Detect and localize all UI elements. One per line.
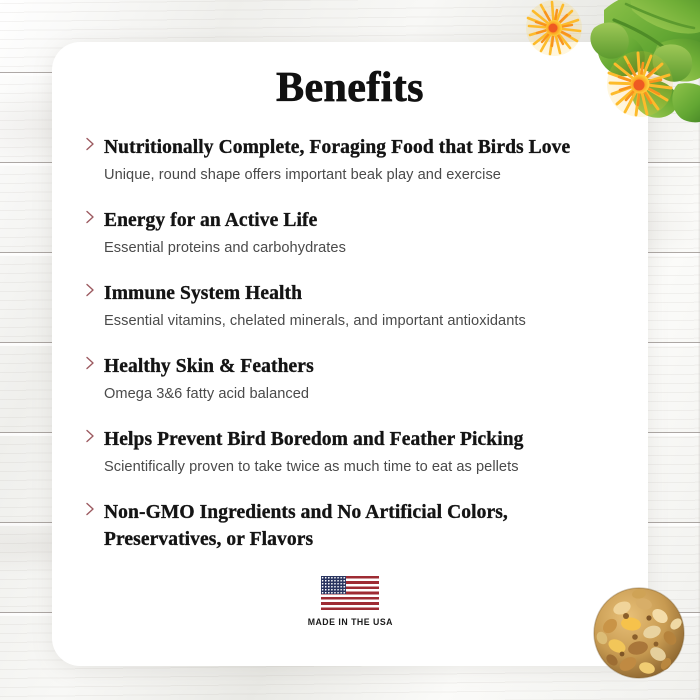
benefits-card: Benefits Nutritionally Complete, Foragin… (52, 42, 648, 666)
list-item: Nutritionally Complete, Foraging Food th… (82, 134, 618, 186)
list-item-body: Healthy Skin & Feathers Omega 3&6 fatty … (104, 353, 618, 405)
flag-stars (321, 576, 346, 594)
made-in-usa-badge: MADE IN THE USA (52, 576, 648, 628)
benefit-subtext: Omega 3&6 fatty acid balanced (104, 383, 618, 405)
benefit-heading: Non-GMO Ingredients and No Artificial Co… (104, 499, 554, 553)
benefits-list: Nutritionally Complete, Foraging Food th… (52, 112, 648, 553)
list-item-body: Immune System Health Essential vitamins,… (104, 280, 618, 332)
benefit-heading: Immune System Health (104, 280, 618, 307)
page-title: Benefits (52, 42, 648, 112)
benefit-subtext: Essential proteins and carbohydrates (104, 237, 618, 259)
benefit-heading: Nutritionally Complete, Foraging Food th… (104, 134, 618, 161)
chevron-right-icon (82, 428, 104, 444)
list-item: Healthy Skin & Feathers Omega 3&6 fatty … (82, 353, 618, 405)
product-benefits-infographic: Benefits Nutritionally Complete, Foragin… (0, 0, 700, 700)
list-item: Helps Prevent Bird Boredom and Feather P… (82, 426, 618, 478)
list-item-body: Helps Prevent Bird Boredom and Feather P… (104, 426, 618, 478)
list-item: Non-GMO Ingredients and No Artificial Co… (82, 499, 618, 553)
benefit-heading: Energy for an Active Life (104, 207, 618, 234)
list-item-body: Non-GMO Ingredients and No Artificial Co… (104, 499, 618, 553)
made-in-usa-caption: MADE IN THE USA (307, 617, 392, 628)
flag-canton (321, 576, 346, 594)
benefit-subtext: Unique, round shape offers important bea… (104, 164, 618, 186)
list-item: Immune System Health Essential vitamins,… (82, 280, 618, 332)
usa-flag-icon (321, 576, 379, 610)
list-item-body: Energy for an Active Life Essential prot… (104, 207, 618, 259)
benefit-heading: Helps Prevent Bird Boredom and Feather P… (104, 426, 618, 453)
list-item-body: Nutritionally Complete, Foraging Food th… (104, 134, 618, 186)
chevron-right-icon (82, 282, 104, 298)
chevron-right-icon (82, 355, 104, 371)
benefit-heading: Healthy Skin & Feathers (104, 353, 618, 380)
chevron-right-icon (82, 136, 104, 152)
benefit-subtext: Scientifically proven to take twice as m… (104, 456, 618, 478)
chevron-right-icon (82, 209, 104, 225)
chevron-right-icon (82, 501, 104, 517)
list-item: Energy for an Active Life Essential prot… (82, 207, 618, 259)
benefit-subtext: Essential vitamins, chelated minerals, a… (104, 310, 618, 332)
